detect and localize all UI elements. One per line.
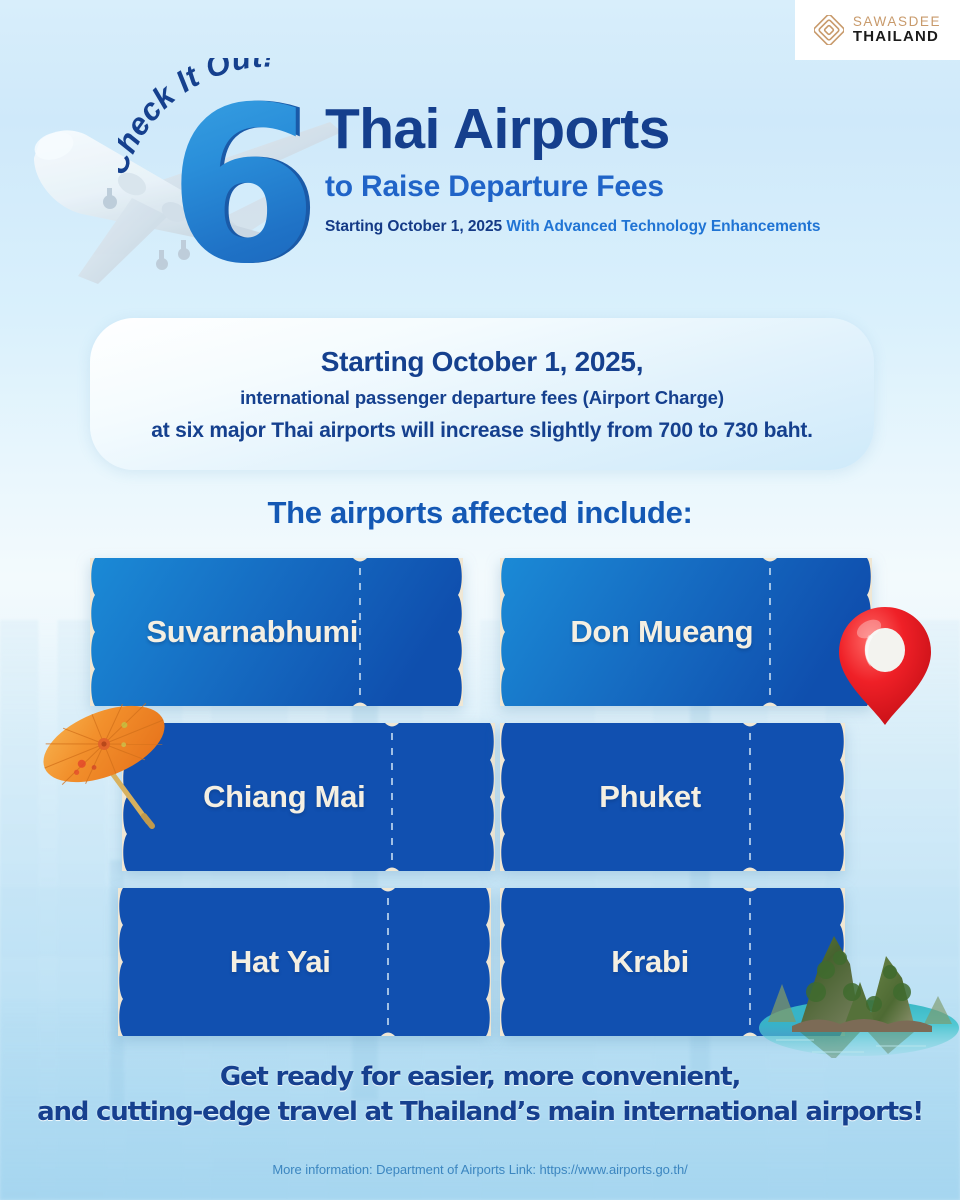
airport-ticket-suvarnabhumi[interactable]: Suvarnabhumi <box>90 558 463 706</box>
brand-logo-text: SAWASDEE THAILAND <box>853 15 941 46</box>
ticket-shape <box>90 558 463 706</box>
headline-note: Starting October 1, 2025 With Advanced T… <box>325 218 925 236</box>
ticket-shape <box>118 888 491 1036</box>
closing-line-2: and cutting-edge travel at Thailand’s ma… <box>0 1095 960 1130</box>
kicker-text: Check It Out! <box>118 58 274 179</box>
infographic-poster: Check It Out! 6 6 Thai Airports to Raise… <box>0 0 960 1200</box>
limestone-island-image <box>756 900 960 1058</box>
headline-note-tech: With Advanced Technology Enhancements <box>506 218 820 235</box>
info-panel-line3: at six major Thai airports will increase… <box>151 419 813 443</box>
airport-ticket-phuket[interactable]: Phuket <box>500 723 845 871</box>
kicker-check-it-out: Check It Out! <box>118 58 348 188</box>
airports-section-heading: The airports affected include: <box>0 495 960 531</box>
closing-line-1: Get ready for easier, more convenient, <box>0 1060 960 1095</box>
info-panel-line1: Starting October 1, 2025, <box>321 346 643 378</box>
airport-ticket-hat-yai[interactable]: Hat Yai <box>118 888 491 1036</box>
footer-link[interactable]: More information: Department of Airports… <box>0 1162 960 1177</box>
ticket-shape <box>500 558 872 706</box>
diamond-logo-icon <box>814 15 844 45</box>
ticket-shape <box>500 723 845 871</box>
svg-text:Check It Out!: Check It Out! <box>118 58 274 179</box>
headline-note-date: Starting October 1, 2025 <box>325 218 502 235</box>
brand-line-1: SAWASDEE <box>853 15 941 30</box>
airport-ticket-don-mueang[interactable]: Don Mueang <box>500 558 872 706</box>
closing-message: Get ready for easier, more convenient, a… <box>0 1060 960 1129</box>
page-subtitle: to Raise Departure Fees <box>325 170 925 204</box>
thai-parasol-icon <box>36 694 218 844</box>
brand-logo: SAWASDEE THAILAND <box>795 0 960 60</box>
brand-line-2: THAILAND <box>853 29 941 45</box>
headline-block: Thai Airports to Raise Departure Fees St… <box>325 100 925 236</box>
info-panel: Starting October 1, 2025, international … <box>90 318 874 470</box>
page-title: Thai Airports <box>325 100 925 158</box>
map-pin-icon <box>833 601 937 729</box>
info-panel-line2: international passenger departure fees (… <box>240 387 724 409</box>
